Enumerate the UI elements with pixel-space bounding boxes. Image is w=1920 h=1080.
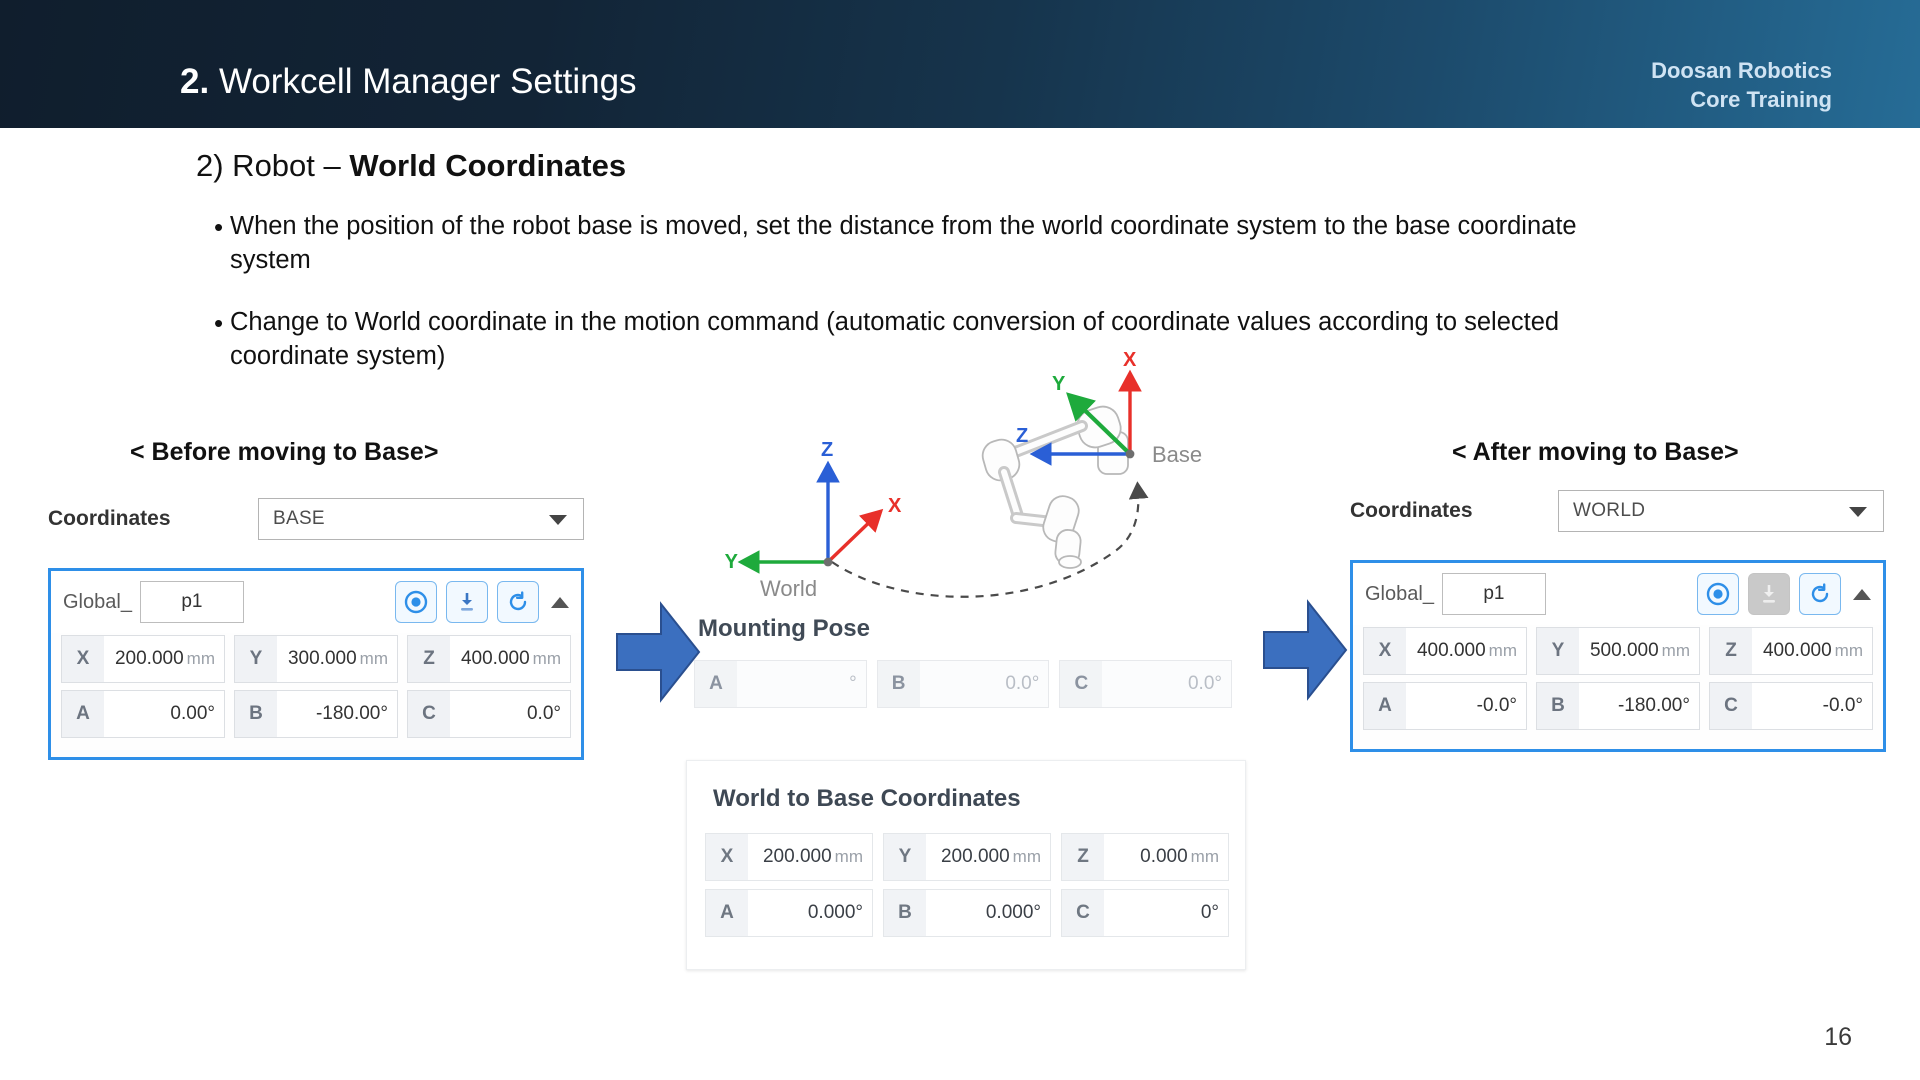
field-y[interactable]: Y 300.000mm — [234, 635, 398, 683]
field-b[interactable]: B -180.00° — [1536, 682, 1700, 730]
field-b[interactable]: B -180.00° — [234, 690, 398, 738]
world-to-base-title: World to Base Coordinates — [687, 761, 1245, 813]
pose-panel-after: Global_ p1 — [1350, 560, 1886, 752]
field-unit: ° — [1033, 902, 1041, 923]
field-value: 200.000mm — [926, 846, 1050, 868]
bullet-marker-icon: • — [214, 210, 230, 278]
field-key: B — [235, 691, 277, 737]
pose-panel-header: Global_ p1 — [51, 571, 581, 633]
field-unit: mm — [1835, 641, 1863, 660]
page-title: 2. Workcell Manager Settings — [180, 62, 637, 102]
download-icon-button — [1748, 573, 1790, 615]
motion-path-dashed — [832, 490, 1138, 597]
target-icon — [403, 589, 429, 615]
mounting-field-b[interactable]: B 0.0° — [877, 660, 1050, 708]
field-key: X — [62, 636, 104, 682]
field-x[interactable]: X 400.000mm — [1363, 627, 1527, 675]
field-unit: mm — [1489, 641, 1517, 660]
caption-after-moving: < After moving to Base> — [1452, 438, 1739, 467]
brand-line-1: Doosan Robotics — [1651, 56, 1832, 85]
field-value: 0.0° — [450, 703, 570, 725]
world-frame: Z Y X World — [725, 439, 902, 600]
wtb-field-z[interactable]: Z 0.000mm — [1061, 833, 1229, 881]
coordinates-select-value: BASE — [259, 508, 325, 530]
coordinate-frame-diagram: Z Y X World X Y Z Base — [700, 340, 1260, 600]
wtb-field-b[interactable]: B 0.000° — [883, 889, 1051, 937]
field-unit: ° — [1855, 695, 1863, 716]
section-heading: 2) Robot – World Coordinates — [196, 148, 626, 184]
mounting-field-a[interactable]: A ° — [694, 660, 867, 708]
field-value: 400.000mm — [1752, 640, 1872, 662]
world-to-base-row-2: A 0.000° B 0.000° C 0° — [705, 889, 1229, 937]
field-key: A — [706, 890, 748, 936]
field-value: 400.000mm — [1406, 640, 1526, 662]
field-key: Y — [1537, 628, 1579, 674]
field-key: C — [408, 691, 450, 737]
field-key: A — [1364, 683, 1406, 729]
mounting-pose-row: A ° B 0.0° C 0.0° — [694, 660, 1232, 708]
field-value: 0.000° — [748, 902, 872, 924]
header-number: 2. — [180, 62, 209, 101]
pose-fields-row-1: X 400.000mm Y 500.000mm Z 400.000mm — [1363, 627, 1873, 675]
field-value: 200.000mm — [104, 648, 224, 670]
field-key: Z — [1062, 834, 1104, 880]
global-label: Global_ — [1365, 583, 1434, 606]
pose-fields-grid: X 200.000mm Y 300.000mm Z 400.000mm A 0.… — [51, 633, 581, 753]
field-unit: ° — [849, 673, 857, 694]
point-name-input[interactable]: p1 — [140, 581, 244, 623]
flow-arrow-left — [615, 600, 701, 704]
field-value: 200.000mm — [748, 846, 872, 868]
download-icon-button[interactable] — [446, 581, 488, 623]
field-unit: ° — [380, 703, 388, 724]
collapse-chevron-up-icon[interactable] — [551, 597, 569, 608]
section-heading-prefix: 2) Robot – — [196, 148, 349, 183]
field-key: B — [884, 890, 926, 936]
caption-before-moving: < Before moving to Base> — [130, 438, 438, 467]
pose-fields-row-2: A -0.0° B -180.00° C -0.0° — [1363, 682, 1873, 730]
field-key: X — [706, 834, 748, 880]
field-x[interactable]: X 200.000mm — [61, 635, 225, 683]
field-unit: mm — [533, 649, 561, 668]
section-heading-strong: World Coordinates — [349, 148, 626, 183]
target-icon-button[interactable] — [395, 581, 437, 623]
base-z-label: Z — [1016, 425, 1028, 447]
field-key: A — [695, 661, 737, 707]
flow-arrow-right — [1262, 598, 1348, 702]
field-unit: ° — [1682, 695, 1690, 716]
global-label: Global_ — [63, 591, 132, 614]
field-value: 0.000° — [926, 902, 1050, 924]
field-y[interactable]: Y 500.000mm — [1536, 627, 1700, 675]
field-key: A — [62, 691, 104, 737]
field-value: 500.000mm — [1579, 640, 1699, 662]
page-number: 16 — [1824, 1023, 1852, 1052]
mounting-pose-title: Mounting Pose — [698, 615, 870, 643]
field-value: 0.000mm — [1104, 846, 1228, 868]
target-icon-button[interactable] — [1697, 573, 1739, 615]
world-y-label: Y — [725, 551, 739, 573]
wtb-field-c[interactable]: C 0° — [1061, 889, 1229, 937]
collapse-chevron-up-icon[interactable] — [1853, 589, 1871, 600]
field-c[interactable]: C 0.0° — [407, 690, 571, 738]
field-unit: ° — [1214, 673, 1222, 694]
world-frame-label: World — [760, 576, 817, 600]
mounting-field-c[interactable]: C 0.0° — [1059, 660, 1232, 708]
pose-panel-header: Global_ p1 — [1353, 563, 1883, 625]
base-x-label: X — [1123, 349, 1137, 371]
coordinates-select-value: WORLD — [1559, 500, 1645, 522]
field-a[interactable]: A -0.0° — [1363, 682, 1527, 730]
field-unit: mm — [835, 847, 863, 866]
field-value: 400.000mm — [450, 648, 570, 670]
field-key: B — [1537, 683, 1579, 729]
pose-panel-before: Global_ p1 — [48, 568, 584, 760]
refresh-icon — [1808, 582, 1832, 606]
field-value: 0° — [1104, 902, 1228, 924]
field-unit: ° — [1211, 902, 1219, 923]
field-z[interactable]: Z 400.000mm — [407, 635, 571, 683]
world-to-base-row-1: X 200.000mm Y 200.000mm Z 0.000mm — [705, 833, 1229, 881]
bullet-item: • When the position of the robot base is… — [214, 210, 1634, 278]
field-unit: mm — [1662, 641, 1690, 660]
field-a[interactable]: A 0.00° — [61, 690, 225, 738]
field-value: 300.000mm — [277, 648, 397, 670]
field-z[interactable]: Z 400.000mm — [1709, 627, 1873, 675]
wtb-field-x[interactable]: X 200.000mm — [705, 833, 873, 881]
header-title-text: Workcell Manager Settings — [219, 62, 637, 101]
field-key: Y — [235, 636, 277, 682]
download-icon — [455, 590, 479, 614]
slide-header: 2. Workcell Manager Settings Doosan Robo… — [0, 0, 1920, 128]
field-key: B — [878, 661, 920, 707]
coordinates-label: Coordinates — [1350, 499, 1558, 523]
wtb-field-a[interactable]: A 0.000° — [705, 889, 873, 937]
field-key: C — [1060, 661, 1102, 707]
world-to-base-fields: X 200.000mm Y 200.000mm Z 0.000mm A 0.00… — [687, 813, 1245, 937]
field-unit: mm — [360, 649, 388, 668]
pose-fields-grid: X 400.000mm Y 500.000mm Z 400.000mm A -0… — [1353, 625, 1883, 745]
world-z-label: Z — [821, 439, 833, 461]
field-unit: ° — [1032, 673, 1040, 694]
field-key: Z — [1710, 628, 1752, 674]
world-to-base-card: World to Base Coordinates X 200.000mm Y … — [686, 760, 1246, 970]
brand-line-2: Core Training — [1651, 85, 1832, 114]
field-value: 0.00° — [104, 703, 224, 725]
field-c[interactable]: C -0.0° — [1709, 682, 1873, 730]
refresh-icon-button[interactable] — [1799, 573, 1841, 615]
pose-fields-row-1: X 200.000mm Y 300.000mm Z 400.000mm — [61, 635, 571, 683]
field-unit: mm — [1191, 847, 1219, 866]
base-y-label: Y — [1052, 373, 1066, 395]
field-value: -0.0° — [1752, 695, 1872, 717]
field-value: ° — [737, 673, 866, 695]
point-name-input[interactable]: p1 — [1442, 573, 1546, 615]
base-frame-label: Base — [1152, 442, 1202, 467]
slide-root: 2. Workcell Manager Settings Doosan Robo… — [0, 0, 1920, 1080]
field-unit: mm — [187, 649, 215, 668]
coordinates-row-after: Coordinates WORLD — [1350, 490, 1884, 532]
pose-fields-row-2: A 0.00° B -180.00° C 0.0° — [61, 690, 571, 738]
field-unit: ° — [855, 902, 863, 923]
coordinates-select-after[interactable]: WORLD — [1558, 490, 1884, 532]
coordinates-row-before: Coordinates BASE — [48, 498, 584, 540]
refresh-icon-button[interactable] — [497, 581, 539, 623]
field-value: -180.00° — [277, 703, 397, 725]
field-key: C — [1062, 890, 1104, 936]
field-unit: ° — [207, 703, 215, 724]
chevron-down-icon — [549, 515, 567, 525]
field-key: Y — [884, 834, 926, 880]
refresh-icon — [506, 590, 530, 614]
coordinates-select-before[interactable]: BASE — [258, 498, 584, 540]
target-icon — [1705, 581, 1731, 607]
bullet-marker-icon: • — [214, 306, 230, 374]
field-unit: ° — [553, 703, 561, 724]
bullet-text: When the position of the robot base is m… — [230, 210, 1634, 278]
chevron-down-icon — [1849, 507, 1867, 517]
robot-arm-illustration — [979, 402, 1128, 568]
brand-block: Doosan Robotics Core Training — [1651, 56, 1832, 114]
field-key: X — [1364, 628, 1406, 674]
wtb-field-y[interactable]: Y 200.000mm — [883, 833, 1051, 881]
pose-action-buttons — [1697, 573, 1841, 615]
field-value: 0.0° — [920, 673, 1049, 695]
field-value: -180.00° — [1579, 695, 1699, 717]
world-x-label: X — [888, 495, 902, 517]
field-unit: mm — [1013, 847, 1041, 866]
pose-action-buttons — [395, 581, 539, 623]
field-value: -0.0° — [1406, 695, 1526, 717]
coordinates-label: Coordinates — [48, 507, 258, 531]
field-key: Z — [408, 636, 450, 682]
field-key: C — [1710, 683, 1752, 729]
field-unit: ° — [1509, 695, 1517, 716]
download-icon — [1757, 582, 1781, 606]
field-value: 0.0° — [1102, 673, 1231, 695]
mounting-pose-fields: A ° B 0.0° C 0.0° — [694, 660, 1232, 708]
